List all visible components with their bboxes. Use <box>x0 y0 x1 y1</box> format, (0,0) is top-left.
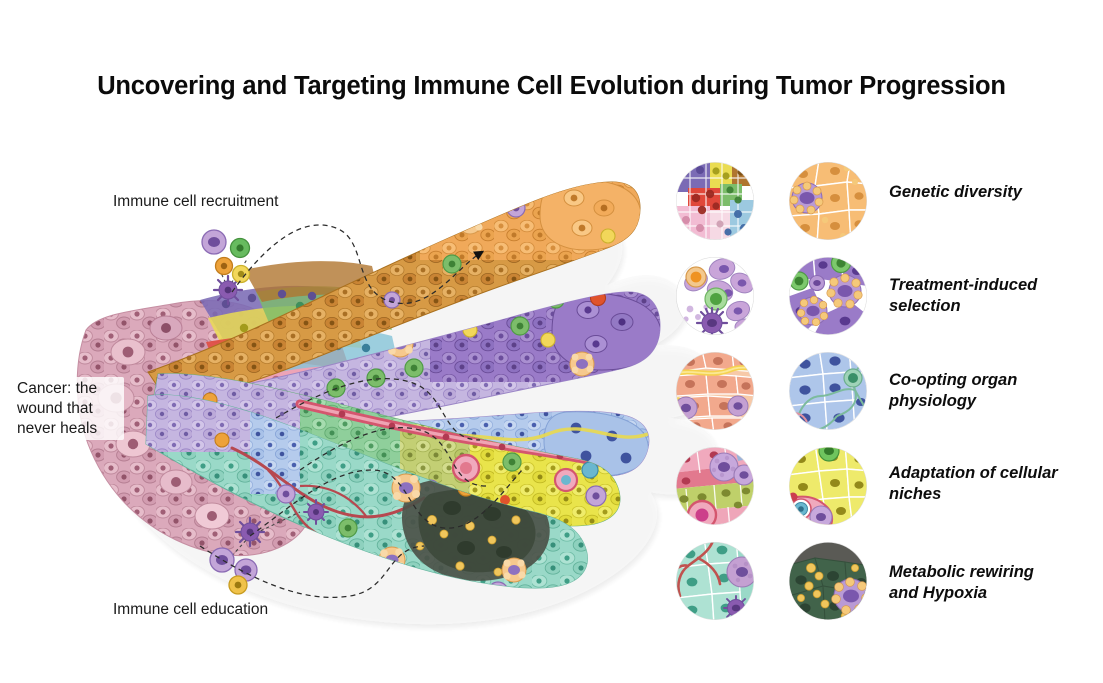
dendritic-cell-branch5 <box>304 500 328 524</box>
panel-label-metabolic-rewiring-hypoxia: Metabolic rewiring and Hypoxia <box>889 562 1101 604</box>
annotation-immune-cell-education: Immune cell education <box>113 600 268 620</box>
circle-metabolic-right <box>789 542 867 620</box>
circle-treatment-selection-left <box>676 257 754 335</box>
lymphocyte-green-float <box>231 239 250 258</box>
granulocyte-yellow-float-b <box>229 576 247 594</box>
panel-label-treatment-induced-selection: Treatment-induced selection <box>889 275 1101 317</box>
circle-co-opting-left <box>676 352 754 430</box>
panel-label-co-opting-organ-physiology: Co-opting organ physiology <box>889 370 1101 412</box>
lymphocyte-violet-float-b1 <box>210 548 234 572</box>
granulocyte-yellow-float <box>233 266 250 283</box>
circle-niches-left <box>676 447 754 525</box>
circle-genetic-diversity-right <box>789 162 867 240</box>
circle-genetic-diversity-left <box>676 162 754 240</box>
figure-canvas: Uncovering and Targeting Immune Cell Evo… <box>0 0 1103 683</box>
panel-label-adaptation-cellular-niches: Adaptation of cellular niches <box>889 463 1101 505</box>
circle-co-opting-right <box>789 352 867 430</box>
annotation-cancer-wound: Cancer: the wound that never heals <box>14 377 124 440</box>
annotation-immune-cell-recruitment: Immune cell recruitment <box>113 192 278 212</box>
panel-label-genetic-diversity: Genetic diversity <box>889 182 1101 203</box>
circle-niches-right <box>789 447 867 525</box>
circle-treatment-selection-right <box>789 257 867 335</box>
lymphocyte-violet-float <box>202 230 226 254</box>
dendritic-cell-education <box>236 518 264 546</box>
circle-metabolic-left <box>676 542 754 620</box>
granulocyte-orange-float <box>216 258 233 275</box>
